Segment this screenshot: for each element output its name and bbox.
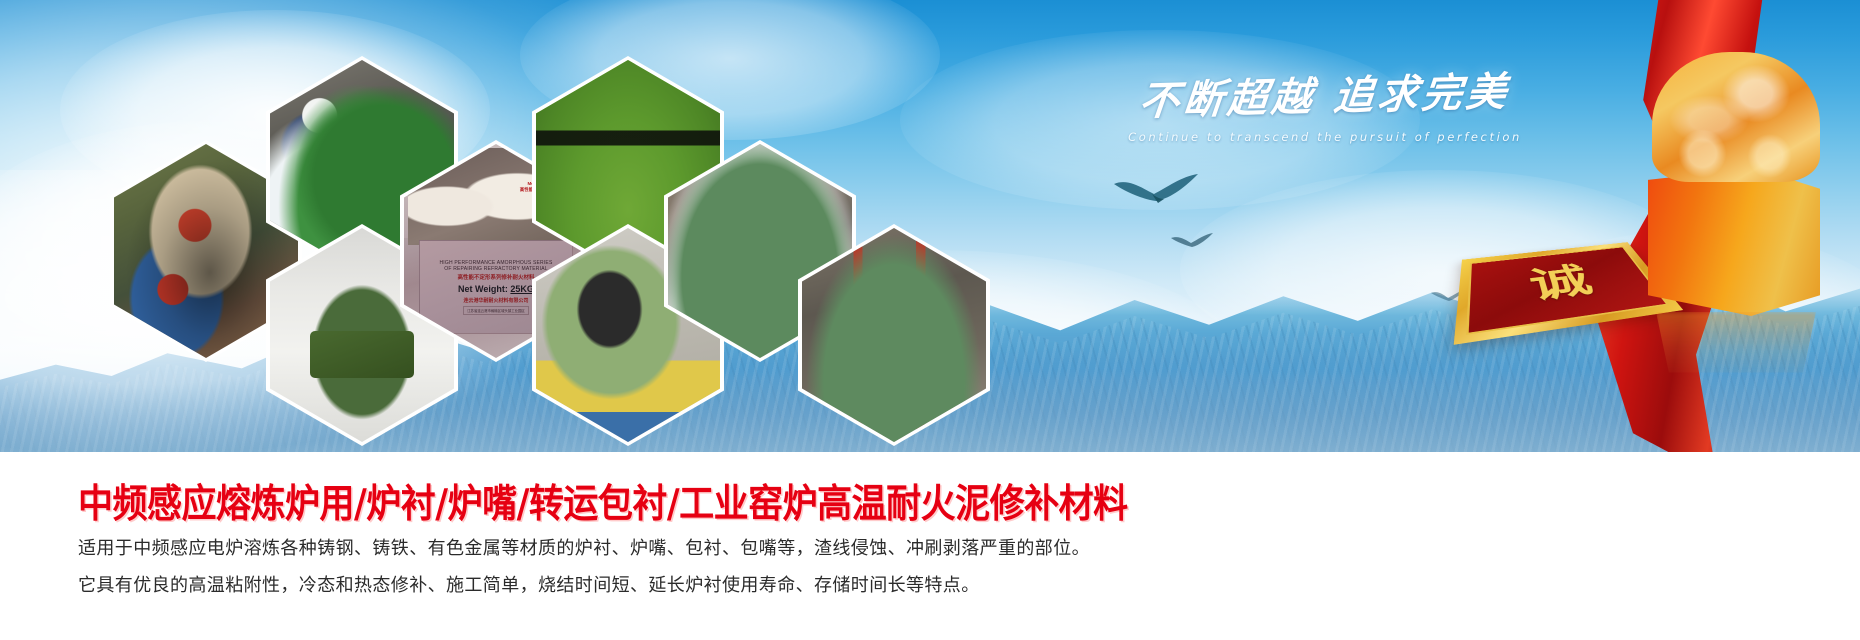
page-title: 中频感应熔炼炉用/炉衬/炉嘴/转运包衬/工业窑炉高温耐火泥修补材料 [78,472,1128,529]
text-panel: 中频感应熔炼炉用/炉衬/炉嘴/转运包衬/工业窑炉高温耐火泥修补材料 适用于中频感… [0,452,1860,640]
bird-icon [1112,172,1200,212]
carton-line-cn: 高性能不定形系列修补耐火材料 [457,273,534,281]
dragon-carving-icon [1652,52,1820,182]
carton-address: 江苏省连云港市赣榆区城头镇工业园区 [463,306,529,315]
carton-line-en-2: OF REPAIRING REFRACTORY MATERIAL [444,266,547,272]
seal-composition: 诚 [1480,0,1860,460]
plaque-character: 诚 [1527,263,1598,305]
body-line-1: 适用于中频感应电炉溶炼各种铸钢、铸铁、有色金属等材质的炉衬、炉嘴、包衬、包嘴等，… [78,534,1090,560]
carton-company: 连云港华耐耐火材料有限公司 [463,297,528,304]
promo-banner: High Quality Monolithic Refractory 高性能不定… [0,0,1860,640]
carton-net-weight: Net Weight: 25KG [458,284,534,294]
jade-seal-body [1648,168,1820,316]
bird-icon [1170,232,1214,252]
body-line-2: 它具有优良的高温粘附性，冷态和热态修补、施工简单，烧结时间短、延长炉衬使用寿命、… [78,571,980,597]
